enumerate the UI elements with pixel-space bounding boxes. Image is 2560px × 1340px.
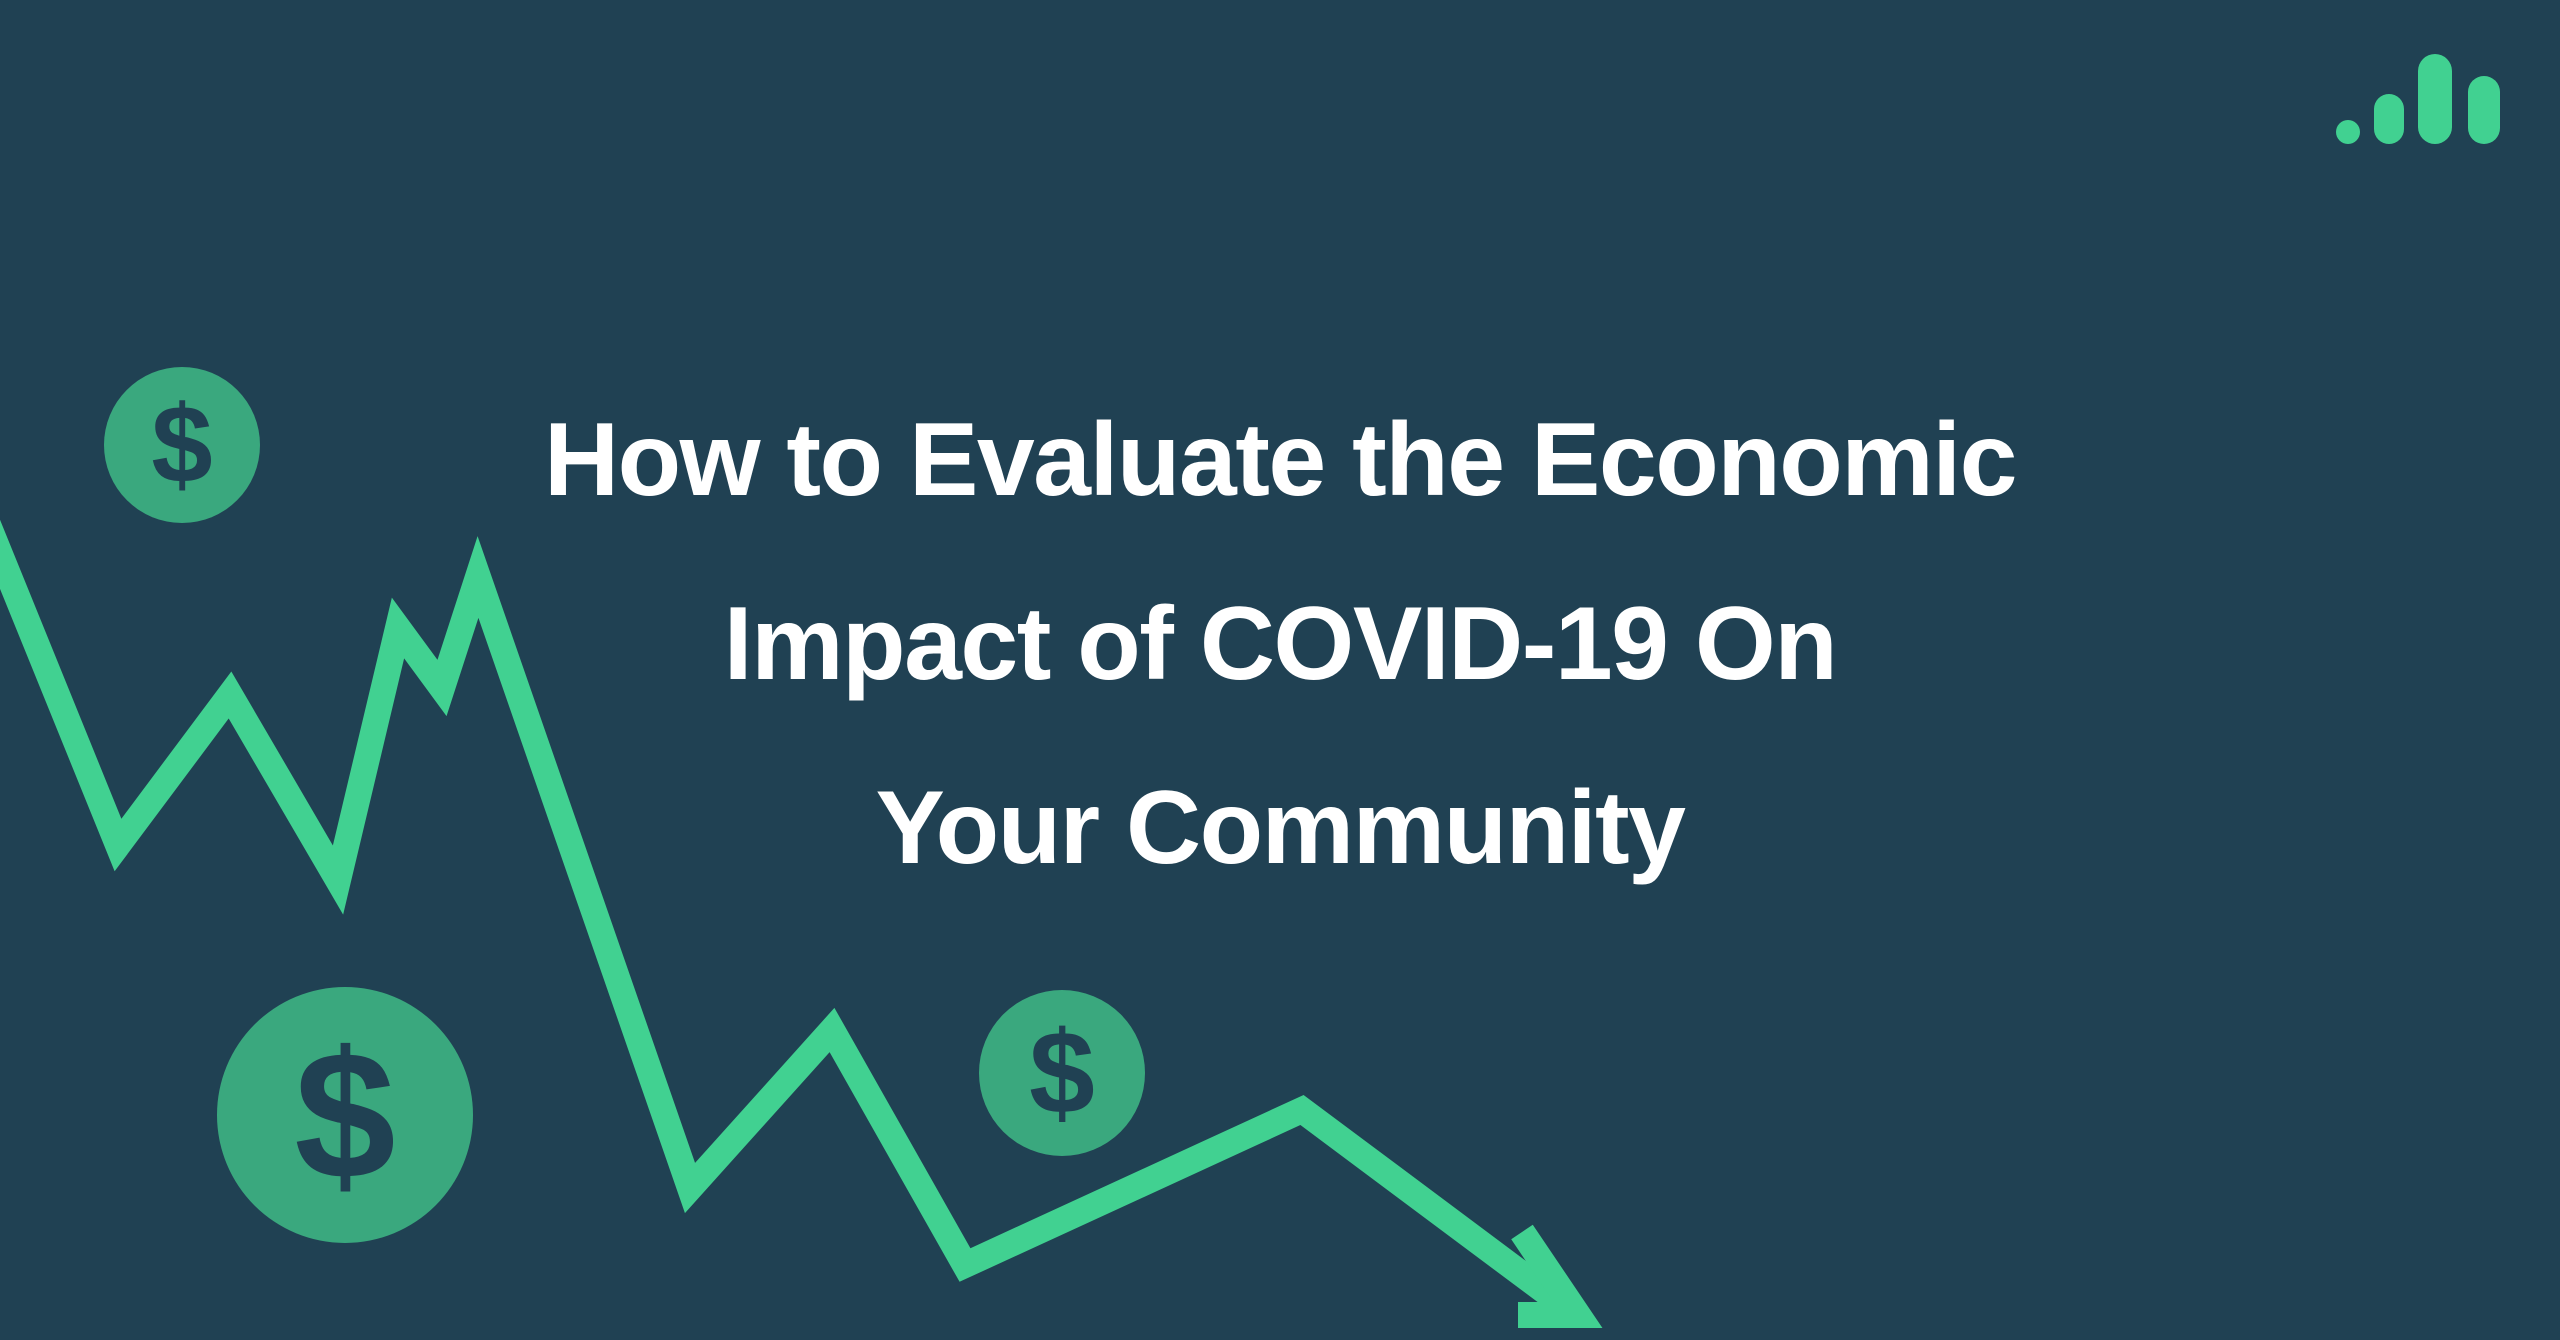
- coin-large-left-dollar-icon: $: [294, 1013, 395, 1217]
- trend-line-path: [0, 505, 1570, 1310]
- logo-bar-dot: [2336, 120, 2360, 144]
- logo-bar-short: [2374, 94, 2404, 144]
- coin-center-dollar-icon: $: [1029, 1007, 1095, 1139]
- logo-bar-medium: [2468, 76, 2500, 144]
- decorative-chart-artwork: $ $ $: [0, 0, 2560, 1340]
- banner-root: $ $ $ How to Evaluate the Economic Impac…: [0, 0, 2560, 1340]
- coin-top-left: $: [104, 367, 260, 523]
- coin-large-left: $: [217, 987, 473, 1243]
- coin-top-left-dollar-icon: $: [151, 384, 212, 507]
- logo-bar-tall: [2418, 54, 2452, 144]
- coin-center: $: [979, 990, 1145, 1156]
- bar-chart-logo-icon[interactable]: [2332, 42, 2508, 144]
